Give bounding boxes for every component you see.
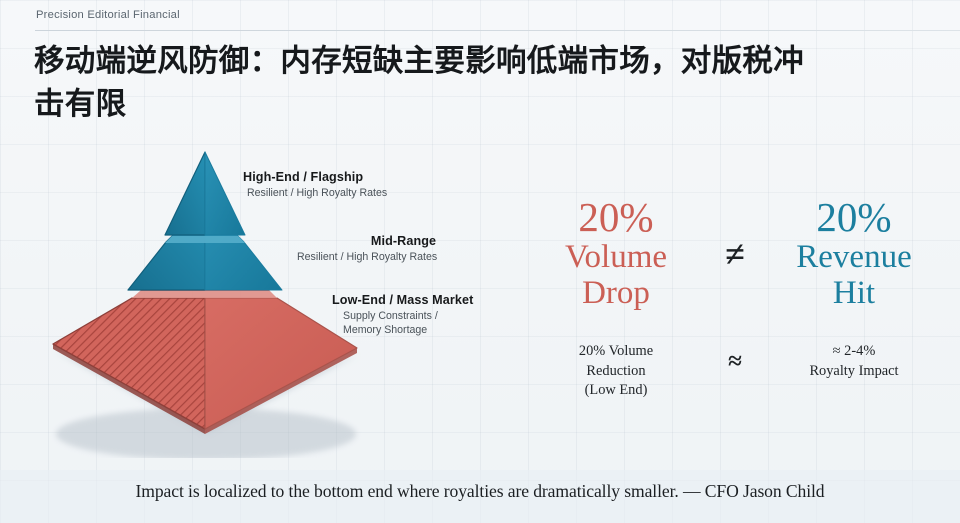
stat-volume-drop: 20% Volume Drop <box>530 197 702 311</box>
stat-volume-drop-percent: 20% <box>530 197 702 237</box>
header-divider <box>35 30 960 31</box>
not-equal-icon: ≠ <box>702 236 768 272</box>
comparison-headline-row: 20% Volume Drop ≠ 20% Revenue Hit <box>525 170 945 338</box>
tier-title-mid-range: Mid-Range <box>283 234 437 248</box>
pyramid-label-low-end: Low-End / Mass Market Supply Constraints… <box>332 293 473 338</box>
slide-canvas: Precision Editorial Financial 移动端逆风防御：内存… <box>0 0 960 523</box>
stat-revenue-hit-label: Revenue Hit <box>768 240 940 311</box>
detail-royalty-impact: ≈ 2-4% Royalty Impact <box>768 342 940 381</box>
page-title: 移动端逆风防御：内存短缺主要影响低端市场，对版税冲击有限 <box>34 40 804 127</box>
tier-title-low-end: Low-End / Mass Market <box>332 293 473 307</box>
tier-subtitle-low-end: Supply Constraints / Memory Shortage <box>332 309 473 338</box>
footer-quote: Impact is localized to the bottom end wh… <box>0 481 960 502</box>
pyramid-tier-high-end <box>165 152 245 235</box>
pyramid-label-high-end: High-End / Flagship Resilient / High Roy… <box>243 170 387 200</box>
comparison-detail-row: 20% Volume Reduction (Low End) ≈ ≈ 2-4% … <box>525 342 945 401</box>
pyramid-tier-low-end <box>53 287 357 434</box>
approximately-equal-icon: ≈ <box>702 342 768 376</box>
tier-title-high-end: High-End / Flagship <box>243 170 387 184</box>
tier-subtitle-mid-range: Resilient / High Royalty Rates <box>283 250 437 264</box>
pyramid-label-mid-range: Mid-Range Resilient / High Royalty Rates <box>283 234 437 264</box>
stat-revenue-hit: 20% Revenue Hit <box>768 197 940 311</box>
stat-revenue-hit-percent: 20% <box>768 197 940 237</box>
brand-kicker: Precision Editorial Financial <box>36 9 180 21</box>
comparison-block: 20% Volume Drop ≠ 20% Revenue Hit 20% Vo… <box>525 170 945 405</box>
stat-volume-drop-label: Volume Drop <box>530 240 702 311</box>
detail-volume-reduction: 20% Volume Reduction (Low End) <box>530 342 702 401</box>
tier-subtitle-high-end: Resilient / High Royalty Rates <box>243 186 387 200</box>
